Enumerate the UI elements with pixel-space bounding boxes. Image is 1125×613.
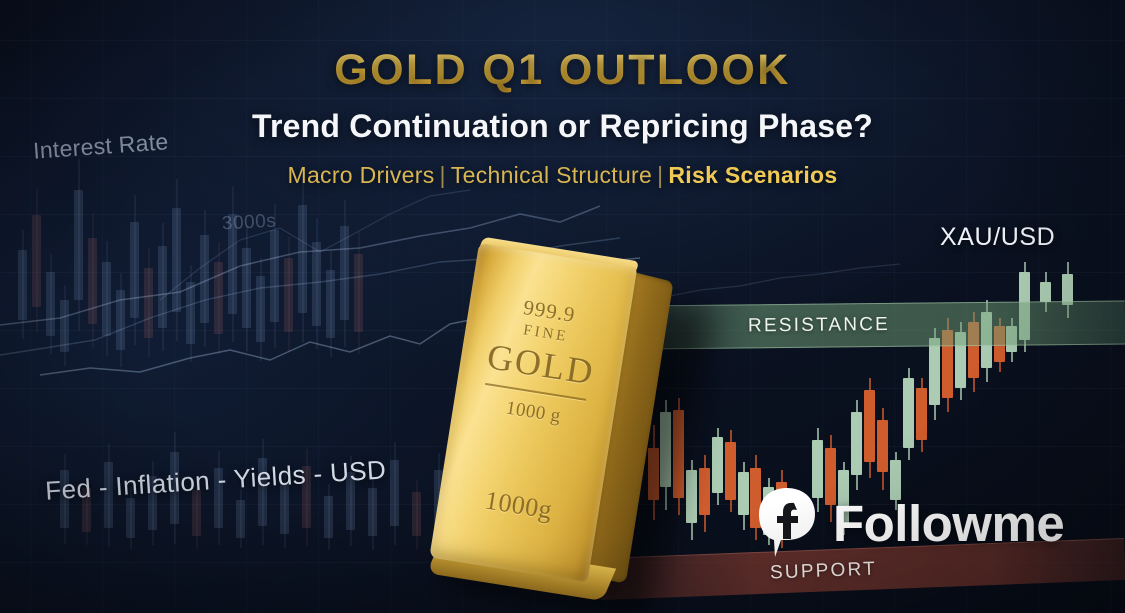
background-candle-wick bbox=[328, 484, 329, 550]
background-candle bbox=[60, 300, 69, 352]
instrument-label: XAU/USD bbox=[940, 223, 1055, 252]
background-candle-wick bbox=[92, 214, 93, 348]
topic-macro-drivers: Macro Drivers bbox=[287, 162, 434, 188]
background-candle-wick bbox=[22, 230, 23, 339]
background-candle bbox=[354, 254, 363, 332]
background-candle bbox=[270, 230, 279, 322]
gold-bar-weight-bottom: 1000g bbox=[437, 478, 600, 533]
background-candle-wick bbox=[394, 442, 395, 545]
background-candle-wick bbox=[302, 175, 303, 343]
candlestick bbox=[929, 338, 940, 405]
candlestick bbox=[738, 472, 749, 515]
candlestick-wick bbox=[882, 408, 884, 490]
followme-logo[interactable]: Followme bbox=[757, 487, 1064, 559]
background-candle-wick bbox=[358, 232, 359, 354]
background-candle bbox=[298, 205, 307, 313]
candlestick bbox=[851, 412, 862, 475]
candlestick-wick bbox=[691, 460, 693, 540]
background-candle bbox=[312, 242, 321, 326]
candlestick bbox=[712, 437, 723, 493]
background-candle-wick bbox=[64, 285, 65, 366]
candlestick-wick bbox=[730, 430, 732, 512]
background-candle bbox=[88, 238, 97, 324]
background-candle bbox=[412, 492, 421, 536]
candlestick bbox=[903, 378, 914, 448]
background-candle bbox=[242, 248, 251, 328]
candlestick bbox=[864, 390, 875, 462]
background-candle-wick bbox=[246, 226, 247, 351]
background-candle-wick bbox=[232, 186, 233, 342]
followme-speech-bubble-f-icon bbox=[757, 487, 817, 559]
tagline-separator-1: | bbox=[435, 162, 451, 188]
candlestick bbox=[916, 388, 927, 440]
candlestick bbox=[877, 420, 888, 472]
candlestick bbox=[1040, 282, 1051, 302]
background-candle bbox=[102, 262, 111, 336]
gold-bar-image: 999.9 FINE GOLD 1000 g 1000g bbox=[428, 243, 692, 603]
topic-technical-structure: Technical Structure bbox=[451, 162, 652, 188]
candlestick-wick bbox=[743, 462, 745, 530]
page-title: GOLD Q1 OUTLOOK bbox=[0, 46, 1125, 95]
background-candle bbox=[186, 282, 195, 344]
background-candle-wick bbox=[190, 265, 191, 362]
background-candle-wick bbox=[148, 248, 149, 357]
followme-wordmark: Followme bbox=[833, 494, 1064, 553]
background-candle bbox=[172, 208, 181, 312]
background-candle bbox=[144, 268, 153, 338]
background-candle bbox=[340, 226, 349, 320]
background-candle bbox=[18, 250, 27, 320]
candlestick bbox=[699, 468, 710, 515]
background-candle-wick bbox=[36, 189, 37, 333]
background-candle-wick bbox=[162, 223, 163, 351]
resistance-label: RESISTANCE bbox=[748, 314, 890, 337]
background-candle bbox=[368, 488, 377, 536]
macro-drivers-line: Fed - Inflation - Yields - USD bbox=[44, 454, 387, 506]
background-candle bbox=[200, 235, 209, 323]
background-candle bbox=[326, 270, 335, 338]
headline-block: GOLD Q1 OUTLOOK Trend Continuation or Re… bbox=[0, 0, 1125, 189]
background-candle-wick bbox=[218, 242, 219, 354]
background-candle bbox=[126, 498, 135, 538]
background-candle-wick bbox=[330, 251, 331, 357]
background-candle-wick bbox=[260, 258, 261, 361]
background-candle-wick bbox=[240, 489, 241, 548]
candlestick-wick bbox=[908, 368, 910, 460]
background-candle bbox=[256, 276, 265, 342]
background-candle-wick bbox=[288, 237, 289, 352]
background-candle-wick bbox=[120, 273, 121, 367]
resistance-zone: RESISTANCE bbox=[640, 300, 1125, 349]
candlestick-wick bbox=[717, 428, 719, 505]
background-candle bbox=[236, 500, 245, 538]
background-candle bbox=[116, 290, 125, 350]
candlestick-wick bbox=[869, 378, 871, 478]
background-candle-wick bbox=[106, 241, 107, 356]
candlestick-wick bbox=[856, 400, 858, 490]
candlestick bbox=[686, 470, 697, 523]
background-candle bbox=[390, 460, 399, 526]
background-number-label: 3000s bbox=[221, 211, 276, 236]
support-label: SUPPORT bbox=[770, 558, 878, 584]
candlestick-wick bbox=[921, 378, 923, 452]
background-candle bbox=[324, 496, 333, 538]
background-candle bbox=[158, 246, 167, 328]
background-candle bbox=[32, 215, 41, 307]
candlestick bbox=[725, 442, 736, 500]
background-candle-wick bbox=[134, 195, 135, 345]
tagline-separator-2: | bbox=[652, 162, 668, 188]
background-candle-wick bbox=[50, 254, 51, 354]
candlestick-wick bbox=[704, 455, 706, 532]
background-candle-wick bbox=[372, 475, 373, 550]
background-candle bbox=[284, 258, 293, 332]
background-candle bbox=[74, 190, 83, 300]
grid-line-horizontal bbox=[0, 214, 1125, 215]
gold-bar-weight-top: 1000 g bbox=[453, 389, 614, 436]
background-candle-wick bbox=[204, 210, 205, 347]
background-candle-wick bbox=[316, 218, 317, 349]
page-subtitle: Trend Continuation or Repricing Phase? bbox=[0, 108, 1125, 145]
background-candle bbox=[214, 262, 223, 334]
background-candle-wick bbox=[416, 480, 417, 549]
background-candle-wick bbox=[344, 200, 345, 347]
gold-outlook-banner: 3000s Interest Rate RESISTANCE SUPPORT X… bbox=[0, 0, 1125, 613]
background-candle bbox=[46, 272, 55, 336]
topics-tagline: Macro Drivers|Technical Structure|Risk S… bbox=[0, 162, 1125, 189]
topic-risk-scenarios: Risk Scenarios bbox=[668, 162, 837, 188]
background-candle bbox=[130, 222, 139, 318]
background-candle-wick bbox=[176, 179, 177, 341]
